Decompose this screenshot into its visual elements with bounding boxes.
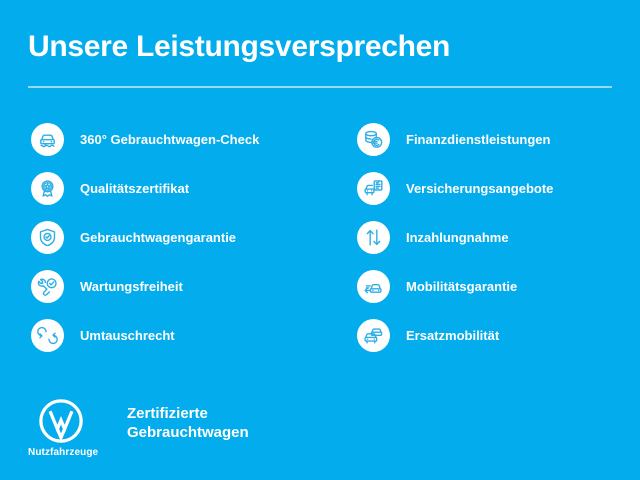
tow-truck-icon <box>357 270 390 303</box>
header-divider <box>28 86 612 88</box>
benefit-label: Inzahlungnahme <box>406 230 509 246</box>
benefit-item: Gebrauchtwagengarantie <box>31 221 311 270</box>
benefit-item: Qualitätszertifikat <box>31 172 311 221</box>
brand-tagline-line1: Zertifizierte <box>127 404 249 423</box>
car-check-icon <box>31 123 64 156</box>
benefit-label: Versicherungsangebote <box>406 181 553 197</box>
page-title: Unsere Leistungsversprechen <box>28 30 450 64</box>
award-rosette-icon <box>31 172 64 205</box>
shield-check-icon <box>31 221 64 254</box>
up-down-arrows-icon <box>357 221 390 254</box>
benefit-label: 360° Gebrauchtwagen-Check <box>80 132 259 148</box>
benefit-item: Wartungsfreiheit <box>31 270 311 319</box>
benefit-label: Ersatzmobilität <box>406 328 499 344</box>
benefit-item: 360° Gebrauchtwagen-Check <box>31 123 311 172</box>
brand-lockup: Nutzfahrzeuge Zertifizierte Gebrauchtwag… <box>28 398 249 458</box>
vw-logo-subtitle: Nutzfahrzeuge <box>28 447 94 458</box>
benefit-label: Umtauschrecht <box>80 328 175 344</box>
benefits-left-column: 360° Gebrauchtwagen-Check Qualitätszerti… <box>31 123 311 368</box>
benefit-item: Ersatzmobilität <box>357 319 637 368</box>
coins-euro-icon <box>357 123 390 156</box>
wrench-check-icon <box>31 270 64 303</box>
vw-roundel-logo <box>38 398 84 444</box>
exchange-arrows-icon <box>31 319 64 352</box>
brand-tagline: Zertifizierte Gebrauchtwagen <box>127 404 249 442</box>
benefits-right-column: Finanzdienstleistungen Versich <box>357 123 637 368</box>
vw-logo-block: Nutzfahrzeuge <box>28 398 94 458</box>
two-cars-icon <box>357 319 390 352</box>
benefit-label: Wartungsfreiheit <box>80 279 183 295</box>
benefit-item: Mobilitätsgarantie <box>357 270 637 319</box>
brand-tagline-line2: Gebrauchtwagen <box>127 423 249 442</box>
benefit-label: Gebrauchtwagengarantie <box>80 230 236 246</box>
car-document-icon <box>357 172 390 205</box>
benefit-label: Mobilitätsgarantie <box>406 279 517 295</box>
benefit-item: Versicherungsangebote <box>357 172 637 221</box>
slide-root: Unsere Leistungsversprechen 360° Gebrauc… <box>0 0 640 480</box>
benefit-label: Finanzdienstleistungen <box>406 132 550 148</box>
benefit-item: Umtauschrecht <box>31 319 311 368</box>
benefit-label: Qualitätszertifikat <box>80 181 189 197</box>
benefit-item: Inzahlungnahme <box>357 221 637 270</box>
benefit-item: Finanzdienstleistungen <box>357 123 637 172</box>
